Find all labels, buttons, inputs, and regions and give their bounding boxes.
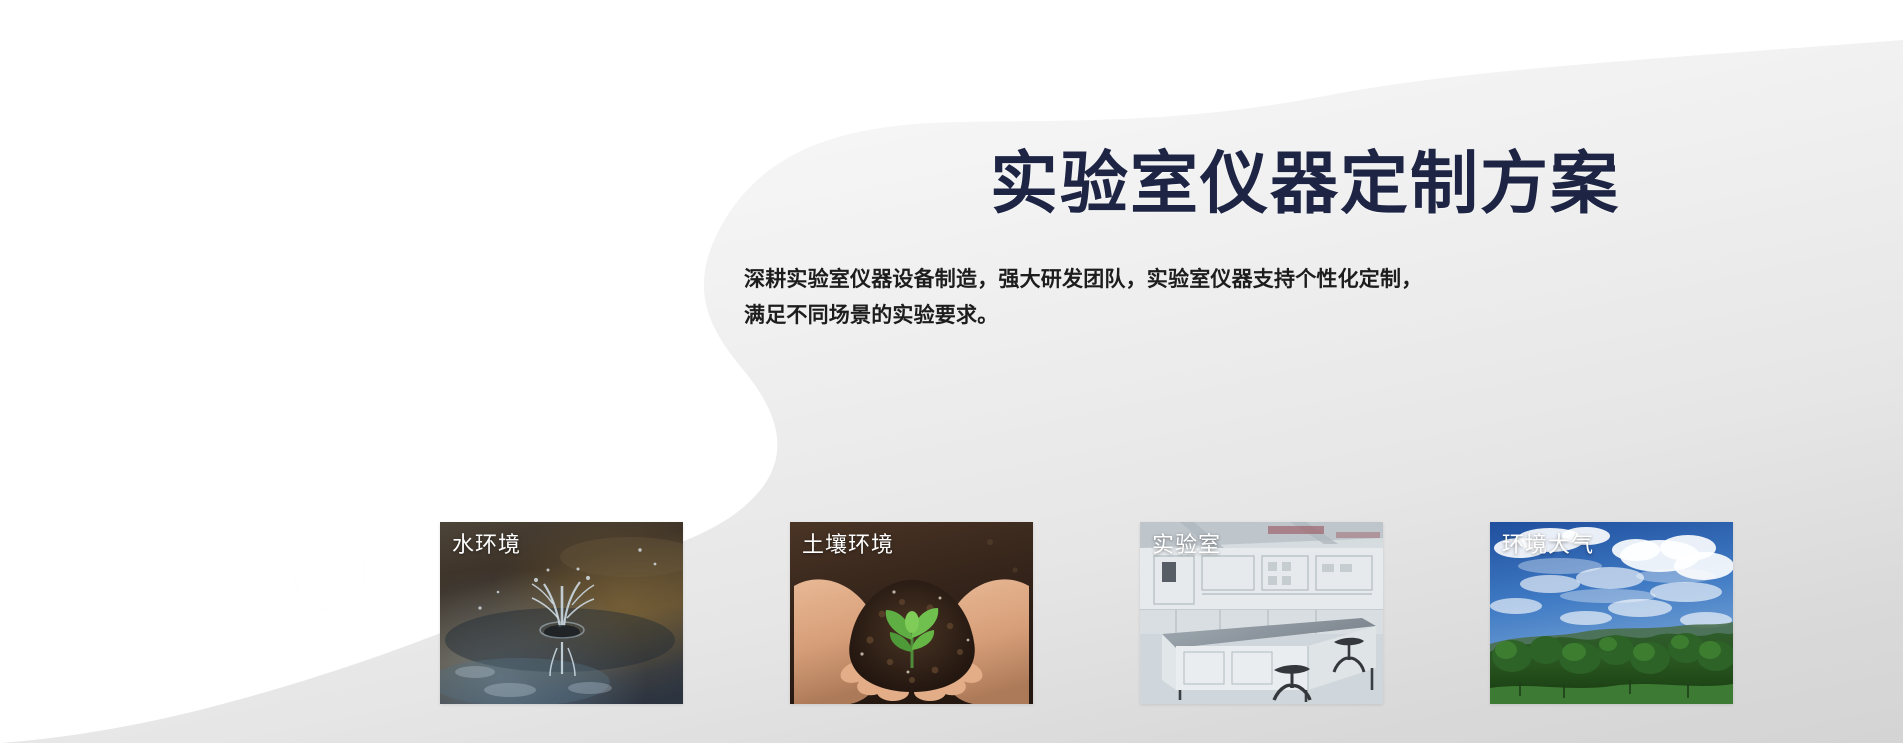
card-label: 土壤环境 — [802, 531, 894, 559]
hero-subtitle: 深耕实验室仪器设备制造，强大研发团队，实验室仪器支持个性化定制， 满足不同场景的… — [744, 262, 1734, 334]
category-card-soil[interactable]: 土壤环境 — [790, 522, 1033, 704]
decorative-circle-lower-fill — [295, 540, 365, 610]
decorative-circle-upper-fill — [328, 143, 432, 247]
category-card-strip: 水环境 — [440, 522, 1715, 704]
headline-block: 实验室仪器定制方案 深耕实验室仪器设备制造，强大研发团队，实验室仪器支持个性化定… — [990, 148, 1730, 221]
card-label: 水环境 — [452, 531, 521, 559]
hero-subtitle-line-2: 满足不同场景的实验要求。 — [744, 304, 998, 327]
category-card-laboratory[interactable]: 实验室 — [1140, 522, 1383, 704]
category-card-water[interactable]: 水环境 — [440, 522, 683, 704]
category-card-atmosphere[interactable]: 环境大气 — [1490, 522, 1733, 704]
card-label: 实验室 — [1152, 531, 1221, 559]
page-title: 实验室仪器定制方案 — [990, 148, 1730, 221]
hero-subtitle-line-1: 深耕实验室仪器设备制造，强大研发团队，实验室仪器支持个性化定制， — [744, 268, 1422, 291]
card-label: 环境大气 — [1502, 531, 1594, 559]
hero-banner: 实验室仪器定制方案 深耕实验室仪器设备制造，强大研发团队，实验室仪器支持个性化定… — [0, 0, 1903, 743]
